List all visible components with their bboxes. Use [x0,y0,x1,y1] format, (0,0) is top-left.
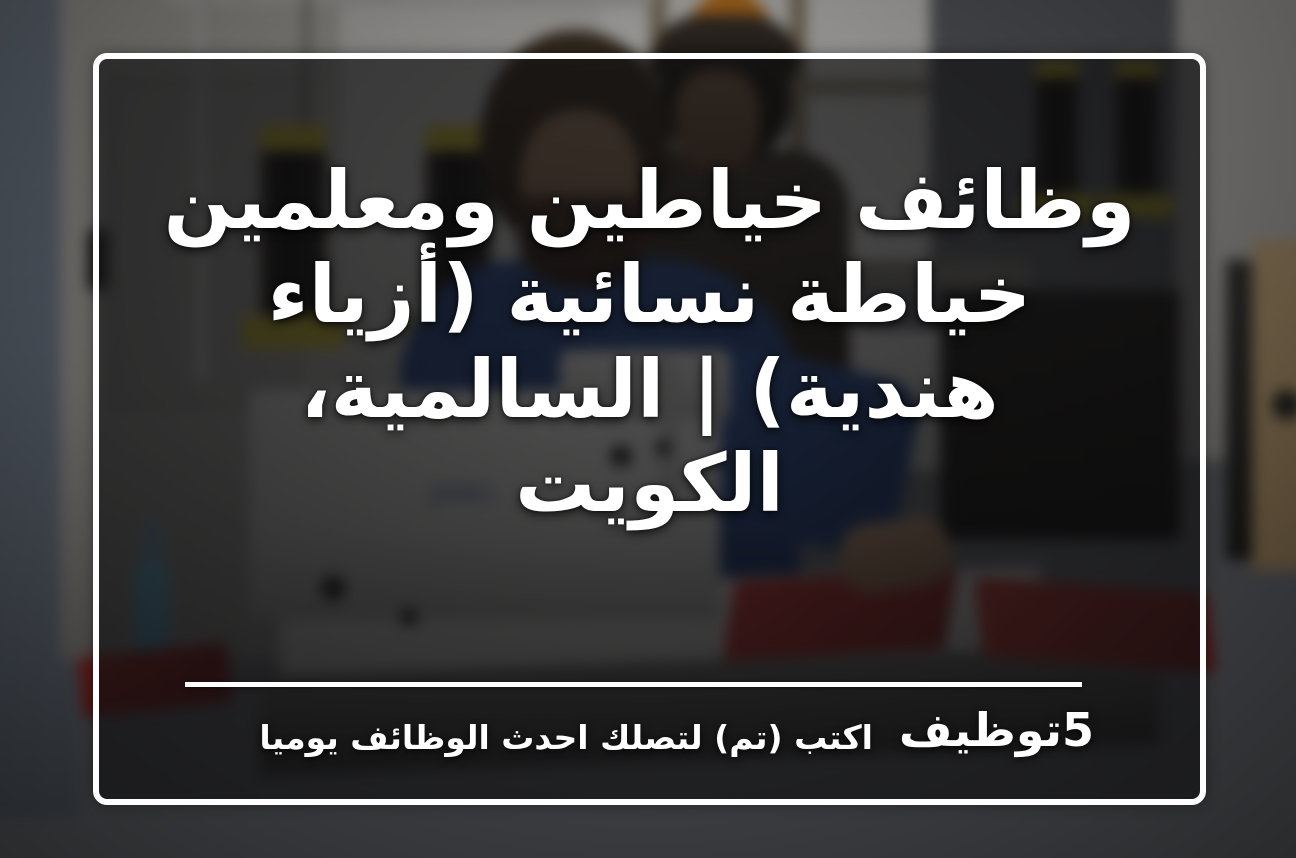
headline-line-2: خياطة نسائية (أزياء [130,248,1170,342]
headline-line-4: الكويت [130,437,1170,531]
brand-logo-text: 5توظيف [899,707,1182,753]
card-content: وظائف خياطين ومعلمين خياطة نسائية (أزياء… [99,59,1200,799]
card-footer: 5توظيف اكتب (تم) لتصلك احدث الوظائف يومي… [99,707,1200,753]
headline-line-1: وظائف خياطين ومعلمين [130,154,1170,248]
page-title: وظائف خياطين ومعلمين خياطة نسائية (أزياء… [130,154,1170,532]
headline-line-3: هندية) | السالمية، [130,343,1170,437]
job-ad-card: JUKI وظائف خياطين ومعلمين خياطة نسائية (… [0,0,1296,858]
footer-divider [185,682,1082,687]
footer-tagline: اكتب (تم) لتصلك احدث الوظائف يوميا [259,721,899,754]
